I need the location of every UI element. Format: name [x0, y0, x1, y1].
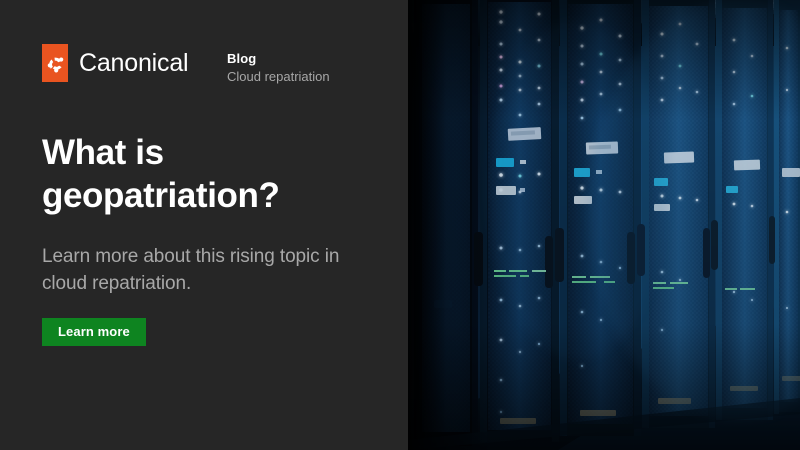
- canonical-wordmark: Canonical: [79, 51, 188, 76]
- page-title: What is geopatriation?: [42, 131, 372, 218]
- content-panel: Canonical Blog Cloud repatriation What i…: [0, 0, 408, 450]
- brand-bar: Canonical Blog Cloud repatriation: [42, 44, 188, 82]
- breadcrumb-category: Blog: [227, 51, 330, 68]
- learn-more-button[interactable]: Learn more: [42, 318, 146, 346]
- canonical-logo[interactable]: Canonical: [42, 44, 188, 82]
- ubuntu-circle-of-friends-icon: [42, 44, 68, 82]
- page-subtitle: Learn more about this rising topic in cl…: [42, 244, 372, 298]
- blog-promo-banner: Canonical Blog Cloud repatriation What i…: [0, 0, 800, 450]
- breadcrumb-topic: Cloud repatriation: [227, 69, 330, 86]
- breadcrumb: Blog Cloud repatriation: [227, 51, 330, 85]
- datacenter-photo: [408, 0, 800, 450]
